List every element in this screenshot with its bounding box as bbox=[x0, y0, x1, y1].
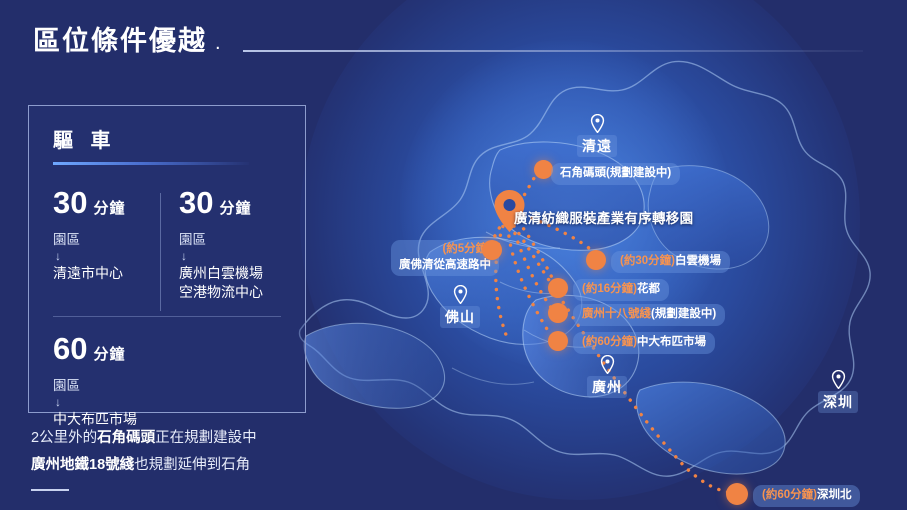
marker-label-metro-line-18[interactable]: 廣州十八號綫(規劃建設中) bbox=[573, 304, 725, 326]
marker-label-baiyun-airport[interactable]: (約30分鐘)白雲機場 bbox=[611, 251, 730, 273]
stat-number: 60 bbox=[53, 333, 87, 364]
page-title: 區位條件優越 . bbox=[33, 28, 221, 55]
marker-time-text: (約16分鐘) bbox=[582, 283, 637, 295]
map-pin-icon bbox=[453, 285, 468, 304]
stat-unit: 分鐘 bbox=[93, 201, 125, 216]
map-pin-icon bbox=[831, 370, 846, 389]
region-dongguan-shenzhen bbox=[637, 382, 786, 474]
city-marker-guangzhou[interactable]: 廣州 bbox=[587, 355, 627, 398]
city-marker-shenzhen[interactable]: 深圳 bbox=[818, 370, 858, 413]
marker-label-text: 花都 bbox=[637, 283, 660, 295]
stat-arrow-icon: ↓ bbox=[181, 250, 305, 263]
marker-label-shenzhen-north[interactable]: (約60分鐘)深圳北 bbox=[753, 485, 860, 507]
marker-label-text: 石角碼頭(規劃建設中) bbox=[560, 167, 671, 179]
marker-label-text: 白雲機場 bbox=[675, 255, 721, 267]
stat-number-group: 30 分鐘 bbox=[53, 187, 179, 218]
stat-card-fabric-market: 60 分鐘 園區 ↓ 中大布匹市場 bbox=[53, 333, 180, 429]
marker-label-text: 廣州十八號綫 bbox=[582, 308, 651, 320]
stat-row-bottom: 60 分鐘 園區 ↓ 中大布匹市場 bbox=[29, 333, 305, 429]
footnote-2-highlight: 廣州地鐵18號綫 bbox=[31, 457, 134, 473]
marker-dot-guangfoqingcong-expressway[interactable] bbox=[482, 240, 502, 260]
stat-destination-line2: 空港物流中心 bbox=[179, 283, 305, 302]
drive-time-panel: 驅 車 30 分鐘 園區 ↓ 清遠市中心 30 分鐘 園區 ↓ bbox=[28, 105, 306, 413]
stat-number-group: 60 分鐘 bbox=[53, 333, 180, 364]
stat-destination-line1: 廣州白雲機場 bbox=[179, 264, 305, 283]
marker-time-text: (約60分鐘) bbox=[762, 489, 817, 501]
stat-origin: 園區 bbox=[53, 232, 179, 249]
border-4 bbox=[452, 368, 534, 384]
stat-arrow-icon: ↓ bbox=[55, 250, 179, 263]
marker-time-text: (約5分鐘) bbox=[399, 242, 491, 258]
footnote-1-post: 正在規劃建設中 bbox=[155, 430, 257, 446]
map-pin-icon bbox=[590, 114, 605, 133]
city-marker-foshan[interactable]: 佛山 bbox=[440, 285, 480, 328]
stat-destination: 廣州白雲機場 空港物流中心 bbox=[179, 264, 305, 302]
panel-header: 驅 車 bbox=[53, 124, 305, 153]
page-title-text: 區位條件優越 bbox=[33, 28, 207, 55]
stat-number: 30 bbox=[179, 187, 213, 218]
city-label: 廣州 bbox=[587, 376, 627, 398]
city-label: 清遠 bbox=[577, 135, 617, 157]
footnote-1-highlight: 石角碼頭 bbox=[97, 430, 155, 446]
stat-destination: 清遠市中心 bbox=[53, 264, 179, 283]
stat-row-top: 30 分鐘 園區 ↓ 清遠市中心 30 分鐘 園區 ↓ 廣州白雲機場 空港物流中… bbox=[29, 187, 305, 302]
marker-label-text: 廣佛清從高速路中 bbox=[399, 259, 491, 271]
city-marker-qingyuan[interactable]: 清遠 bbox=[577, 114, 617, 157]
footnotes: 2公里外的石角碼頭正在規劃建設中 廣州地鐵18號綫也規劃延伸到石角 bbox=[31, 425, 257, 491]
marker-dot-baiyun-airport[interactable] bbox=[586, 250, 606, 270]
stat-arrow-icon: ↓ bbox=[55, 396, 180, 409]
stat-number: 30 bbox=[53, 187, 87, 218]
stat-card-qingyuan: 30 分鐘 園區 ↓ 清遠市中心 bbox=[53, 187, 179, 302]
stat-unit: 分鐘 bbox=[93, 347, 125, 362]
title-dot: . bbox=[215, 33, 221, 55]
footnote-1-pre: 2公里外的 bbox=[31, 430, 97, 446]
marker-label-text: 深圳北 bbox=[817, 489, 852, 501]
stat-number-group: 30 分鐘 bbox=[179, 187, 305, 218]
marker-label-shijiao-port[interactable]: 石角碼頭(規劃建設中) bbox=[551, 163, 680, 185]
map-pin-icon bbox=[600, 355, 615, 374]
slide-root: 區位條件優越 . 驅 車 30 分鐘 園區 ↓ 清遠市中心 30 分鐘 園區 bbox=[0, 0, 907, 510]
panel-header-underline bbox=[53, 162, 249, 165]
region-west-lobe bbox=[304, 323, 444, 408]
marker-label-suffix: (規劃建設中) bbox=[651, 308, 716, 320]
city-label: 佛山 bbox=[440, 306, 480, 328]
stat-origin: 園區 bbox=[53, 378, 180, 395]
footnote-1: 2公里外的石角碼頭正在規劃建設中 bbox=[31, 425, 257, 452]
main-marker-label: 廣清紡織服裝產業有序轉移園 bbox=[514, 207, 693, 227]
footnote-2-post: 也規劃延伸到石角 bbox=[134, 457, 250, 473]
title-divider bbox=[243, 50, 863, 52]
footnote-2: 廣州地鐵18號綫也規劃延伸到石角 bbox=[31, 452, 257, 479]
marker-label-huadu[interactable]: (約16分鐘)花都 bbox=[573, 279, 669, 301]
marker-time-text: (約60分鐘) bbox=[582, 336, 637, 348]
stat-card-airport: 30 分鐘 園區 ↓ 廣州白雲機場 空港物流中心 bbox=[179, 187, 305, 302]
footnote-divider bbox=[31, 489, 69, 491]
panel-row-divider bbox=[53, 316, 281, 317]
stat-origin: 園區 bbox=[179, 232, 305, 249]
marker-label-text: 中大布匹市場 bbox=[637, 336, 706, 348]
city-label: 深圳 bbox=[818, 391, 858, 413]
marker-dot-metro-line-18[interactable] bbox=[548, 303, 568, 323]
marker-dot-huadu[interactable] bbox=[548, 278, 568, 298]
marker-dot-zhongda-fabric-market[interactable] bbox=[548, 331, 568, 351]
marker-dot-shenzhen-north[interactable] bbox=[726, 483, 748, 505]
marker-time-text: (約30分鐘) bbox=[620, 255, 675, 267]
stat-unit: 分鐘 bbox=[219, 201, 251, 216]
marker-label-zhongda-fabric-market[interactable]: (約60分鐘)中大布匹市場 bbox=[573, 332, 715, 354]
